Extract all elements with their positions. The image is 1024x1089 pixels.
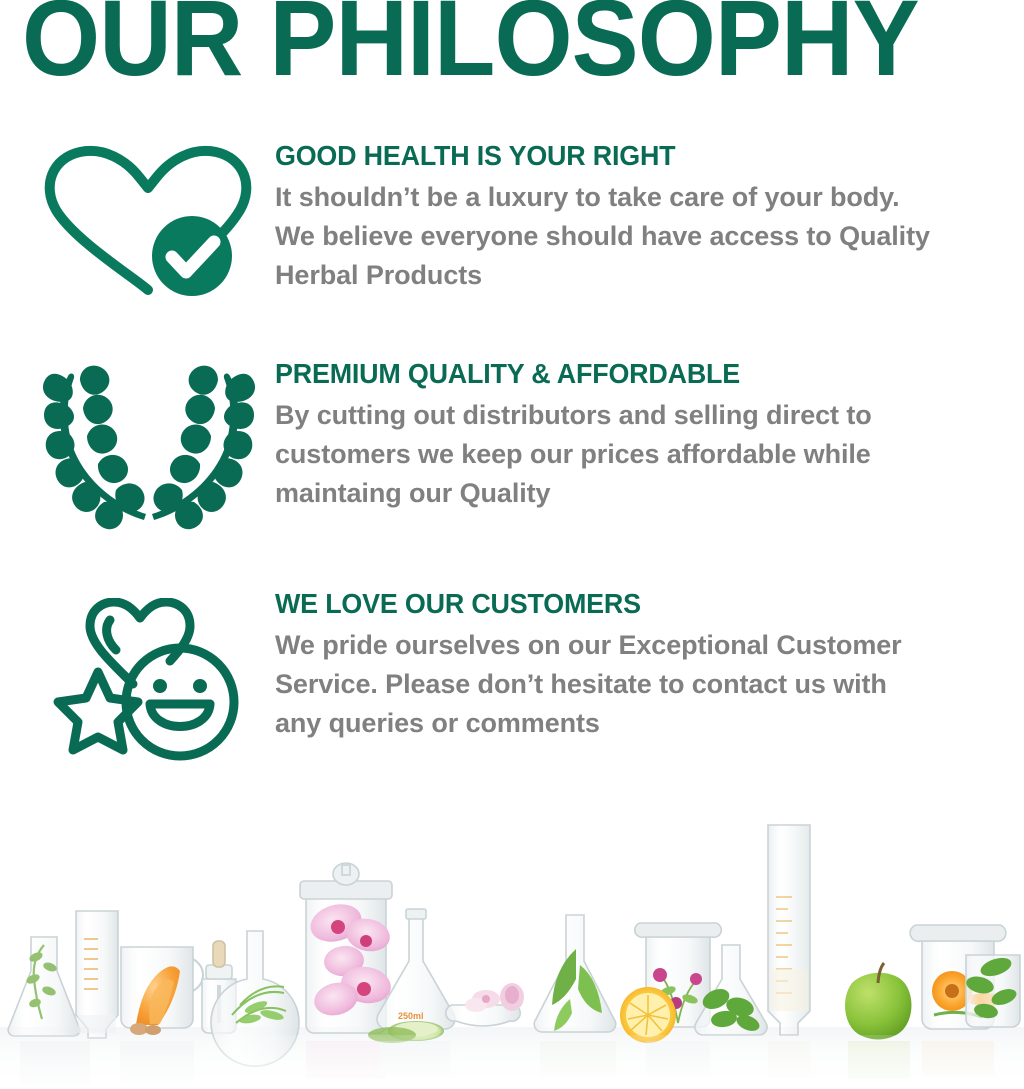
heart-star-smiley-icon: [40, 588, 275, 770]
feature-body: By cutting out distributors and selling …: [275, 396, 935, 513]
feature-text-block: WE LOVE OUR CUSTOMERS We pride ourselves…: [275, 588, 1024, 743]
feature-heading: GOOD HEALTH IS YOUR RIGHT: [275, 140, 971, 172]
heart-check-icon: [40, 140, 275, 296]
feature-heading: WE LOVE OUR CUSTOMERS: [275, 588, 971, 620]
feature-text-block: PREMIUM QUALITY & AFFORDABLE By cutting …: [275, 358, 1024, 513]
feature-item-we-love-customers: WE LOVE OUR CUSTOMERS We pride ourselves…: [0, 588, 1024, 770]
philosophy-feature-list: GOOD HEALTH IS YOUR RIGHT It shouldn’t b…: [0, 140, 1024, 830]
feature-text-block: GOOD HEALTH IS YOUR RIGHT It shouldn’t b…: [275, 140, 1024, 295]
feature-body: We pride ourselves on our Exceptional Cu…: [275, 626, 935, 743]
feature-item-good-health: GOOD HEALTH IS YOUR RIGHT It shouldn’t b…: [0, 140, 1024, 296]
laurel-wreath-icon: [40, 358, 275, 530]
page-title: OUR PHILOSOPHY: [22, 0, 938, 92]
feature-heading: PREMIUM QUALITY & AFFORDABLE: [275, 358, 971, 390]
feature-body: It shouldn’t be a luxury to take care of…: [275, 178, 935, 295]
feature-item-premium-quality: PREMIUM QUALITY & AFFORDABLE By cutting …: [0, 358, 1024, 530]
flask-volume-label: 250ml: [398, 1011, 424, 1021]
lab-glassware-photo: 250ml: [0, 819, 1024, 1089]
